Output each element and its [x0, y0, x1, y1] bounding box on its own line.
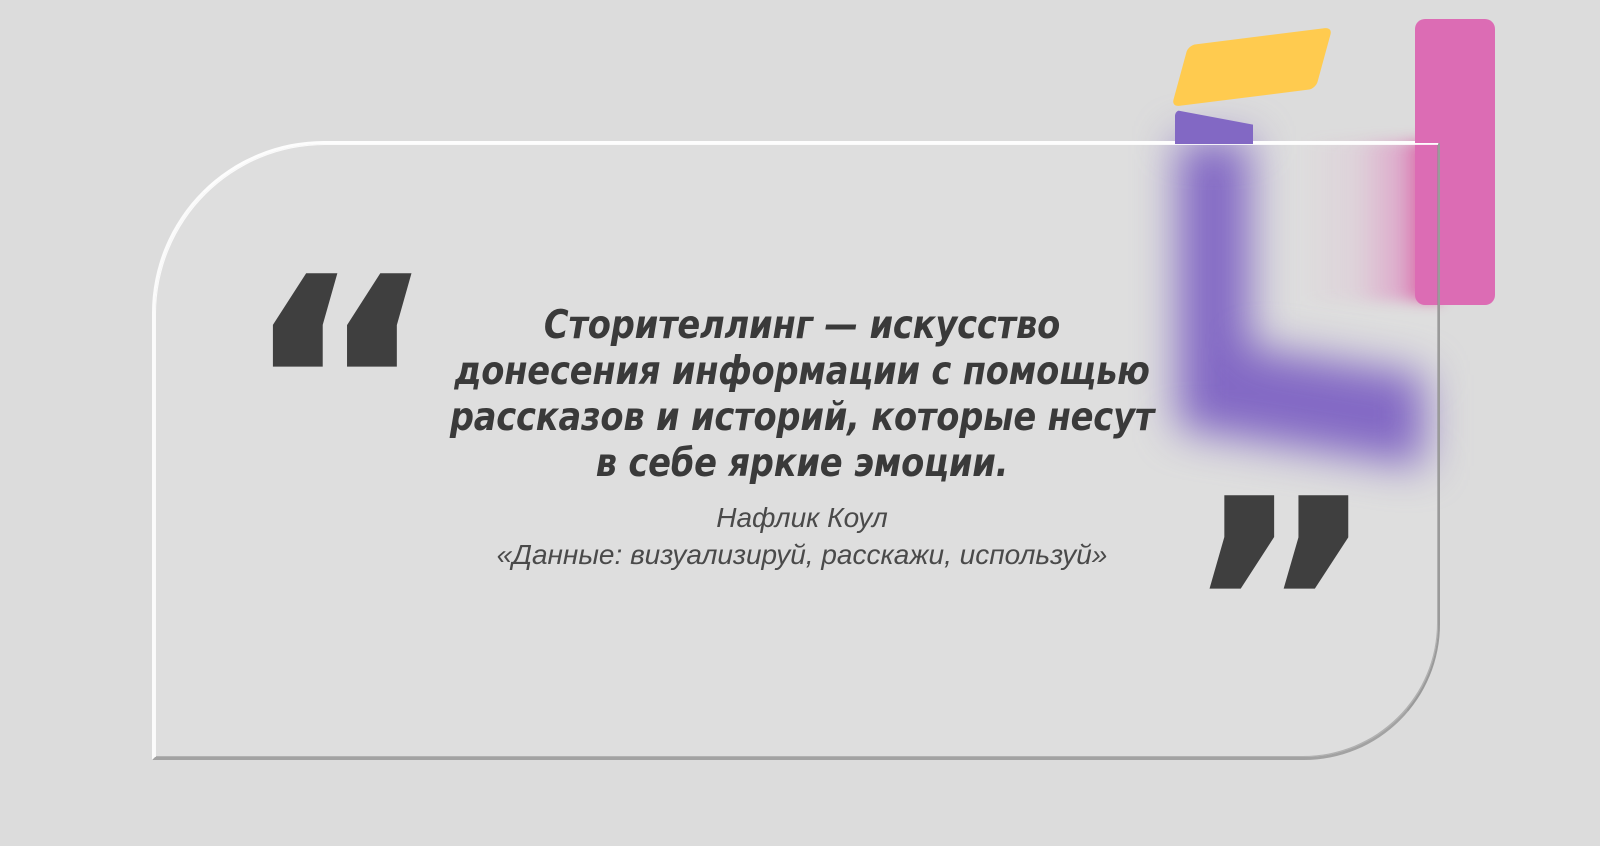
pink-bar-upper: [1415, 19, 1495, 143]
quote-text: Сторителлинг — искусство донесения инфор…: [437, 303, 1167, 487]
closing-quote-icon: ”: [1182, 461, 1379, 761]
quote-content: “ Сторителлинг — искусство донесения инф…: [152, 141, 1440, 760]
quote-line: донесения информации с помощью: [437, 349, 1167, 395]
attribution-author: Нафлик Коул: [422, 499, 1182, 536]
opening-quote-icon: “: [242, 239, 439, 539]
quote-attribution: Нафлик Коул «Данные: визуализируй, расск…: [422, 499, 1182, 573]
purple-l-shape-top: [1175, 110, 1253, 144]
quote-line: в себе яркие эмоции.: [437, 441, 1167, 487]
attribution-source: «Данные: визуализируй, расскажи, использ…: [422, 536, 1182, 573]
yellow-parallelogram: [1172, 27, 1333, 106]
slide-canvas: “ Сторителлинг — искусство донесения инф…: [0, 0, 1600, 846]
quote-line: Сторителлинг — искусство: [437, 303, 1167, 349]
quote-line: рассказов и историй, которые несут: [437, 395, 1167, 441]
